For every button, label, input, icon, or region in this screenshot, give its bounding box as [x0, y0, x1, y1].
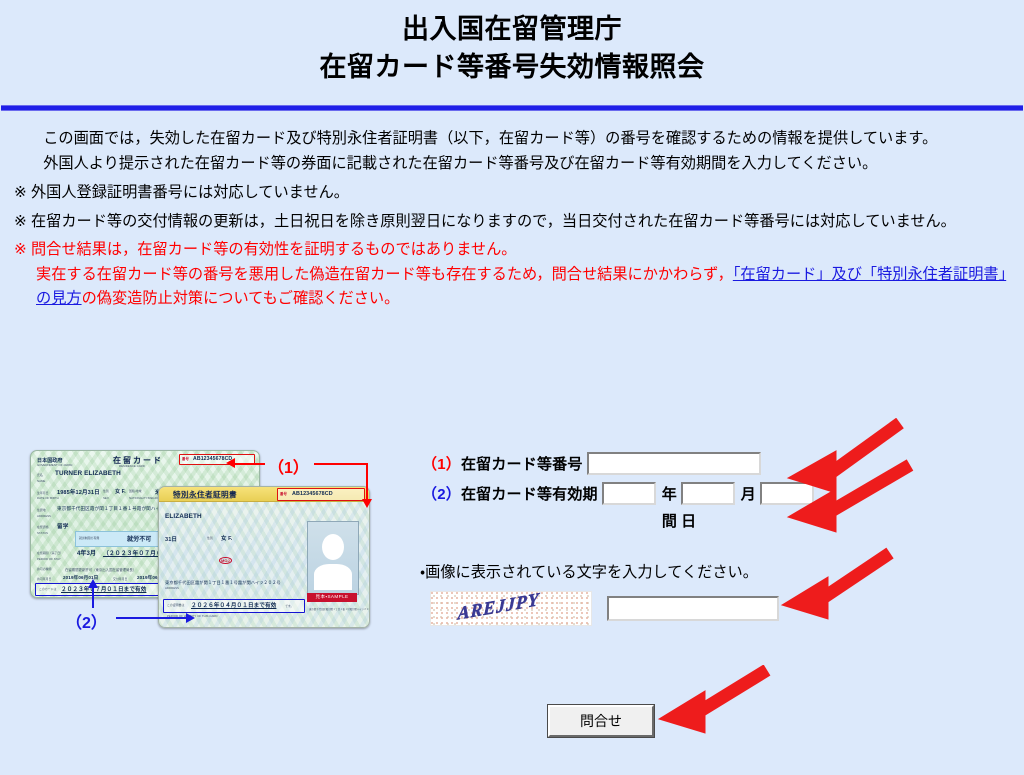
rc-period-value: 4年3月: [77, 548, 96, 557]
captcha-image-text: AREJJPY: [457, 591, 540, 624]
rc-card-title-en: RESIDENCE CARD: [119, 464, 145, 468]
anno1-label: （1）: [268, 454, 309, 478]
anno2-line-horizontal: [116, 617, 188, 619]
inquiry-submit-button[interactable]: 問合せ: [548, 705, 654, 737]
field2-tail-label: 間 日: [538, 510, 820, 531]
special-permanent-resident-card-sample: 特別永住者証明書 SPECIAL PERMANENT RESIDENT CERT…: [158, 486, 370, 628]
anno1-arrowhead-down-icon: [362, 499, 372, 508]
form-row-validity-period: （2） 在留カード等有効期 年 月: [420, 482, 820, 505]
rc-status-value: 留学: [57, 522, 68, 530]
rc-valid-prefix: このカードは: [39, 587, 56, 591]
rc-name-en: NAME: [37, 479, 45, 483]
unit-month-label: 月: [741, 483, 756, 504]
rc-status-en: STATUS: [37, 531, 48, 535]
field1-index-label: （1）: [422, 453, 461, 474]
spr-photo-head: [322, 534, 344, 560]
rc-issue-label: 交付年月日: [113, 577, 127, 581]
anno1-line-left: [233, 463, 265, 465]
note-foreign-registration: ※ 外国人登録証明書番号には対応していません。: [14, 181, 1010, 206]
spr-card-title-en: SPECIAL PERMANENT RESIDENT CERTIFICATE: [173, 497, 232, 500]
sample-cards-illustration: 日本国政府 GOVERNMENT OF JAPAN 在留カード RESIDENC…: [18, 438, 428, 648]
spr-photo-body: [314, 564, 352, 590]
note-issuance-update: ※ 在留カード等の交付情報の更新は，土日祝日を除き原則翌日になりますので，当日交…: [14, 210, 1010, 235]
rc-work-band-label: 就労制限の有無: [79, 536, 99, 540]
rc-name-label: 氏名: [37, 473, 43, 477]
spr-sample-banner: 見本・SAMPLE: [307, 593, 357, 602]
spr-footer-note: 東京都千代田区霞が関１丁目１番１号霞が関ハイツ２０２号: [309, 607, 370, 611]
anno2-arrowhead-right-icon: [186, 613, 195, 623]
rc-sex-label: 性別: [103, 489, 109, 493]
form-row-card-number: （1） 在留カード等番号: [420, 452, 820, 475]
validity-month-input[interactable]: [681, 482, 735, 505]
validity-year-input[interactable]: [602, 482, 656, 505]
spr-address-en: ADDRESS: [165, 586, 179, 590]
rc-permit-value: 在留期間更新許可（東京出入国在留管理局長）: [65, 567, 136, 572]
rc-status-label: 在留資格: [37, 525, 49, 529]
rc-gov-en: GOVERNMENT OF JAPAN: [37, 463, 72, 467]
intro-paragraph-2: 外国人より提示された在留カード等の券面に記載された在留カード等番号及び在留カード…: [14, 152, 1010, 177]
spr-name-value: ELIZABETH: [165, 513, 202, 520]
page-header: 出入国在留管理庁 在留カード等番号失効情報照会: [0, 0, 1024, 87]
rc-sex-value: 女 F.: [115, 488, 126, 495]
rc-permit-label: 許可の種類: [37, 567, 51, 571]
rc-nationality-label: 国籍・地域: [129, 489, 142, 493]
inquiry-form: （1） 在留カード等番号 （2） 在留カード等有効期 年 月 間 日 ・画像に表…: [420, 452, 820, 626]
submit-area: 問合せ: [548, 705, 654, 737]
rc-period-label: 在留期間（満了日）: [37, 551, 63, 555]
spr-sex-value: 女 F.: [221, 534, 232, 542]
spr-valid-text: ２０２６年０４月０１日まで有効: [191, 601, 276, 609]
spr-address-value: 東京都千代田区霞が関１丁目１番１号霞が関ハイツ２０２号: [165, 580, 281, 586]
field2-text-label: 在留カード等有効期: [461, 483, 598, 504]
note-forgery-pre: 実在する在留カード等の番号を悪用した偽造在留カード等も存在するため，問合せ結果に…: [36, 266, 733, 283]
note-forgery-warning: 実在する在留カード等の番号を悪用した偽造在留カード等も存在するため，問合せ結果に…: [14, 263, 1010, 312]
rc-work-band-value: 就労不可: [127, 534, 151, 543]
spr-valid-prefix: この証明書は: [167, 603, 184, 607]
header-divider: [1, 105, 1023, 111]
anno2-label: （2）: [66, 609, 107, 633]
unit-year-label: 年: [662, 483, 677, 504]
anno1-arrowhead-left-icon: [226, 458, 235, 468]
captcha-instruction: ・画像に表示されている文字を入力してください。: [420, 560, 820, 582]
intro-text-block: この画面では，失効した在留カード及び特別永住者証明書（以下，在留カード等）の番号…: [14, 127, 1010, 312]
spr-number-label: 番号: [280, 491, 287, 496]
rc-period-en: PERIOD OF STAY: [37, 557, 61, 561]
anno2-arrowhead-up-icon: [88, 579, 98, 588]
spr-moj-seal-icon: MOJ: [219, 557, 232, 564]
rc-permit-date-label: 許可年月日: [37, 577, 51, 581]
header-divider-wrap: [0, 105, 1024, 111]
anno1-line-right: [314, 463, 368, 465]
note-validity-warning: ※ 問合せ結果は，在留カード等の有効性を証明するものではありません。: [14, 238, 1010, 263]
spr-photo-placeholder: [307, 521, 359, 595]
anno1-line-vertical: [366, 463, 368, 501]
field1-text-label: 在留カード等番号: [461, 453, 583, 474]
spr-number-value: AB12345678CD: [292, 491, 333, 497]
rc-birth-label: 生年月日: [37, 491, 49, 495]
rc-number-label: 番号: [182, 456, 189, 461]
anno2-line-vertical: [92, 586, 94, 608]
rc-name-value: TURNER ELIZABETH: [55, 470, 121, 477]
captcha-image: AREJJPY: [430, 591, 592, 626]
rc-address-label: 住居地: [37, 508, 46, 512]
rc-address-en: ADDRESS: [37, 514, 51, 518]
note-forgery-post: の偽変造防止対策についてもご確認ください。: [82, 290, 400, 307]
spr-sex-label: 性別: [207, 536, 213, 540]
field2-index-label: （2）: [422, 483, 461, 504]
rc-nationality-en: NATIONALITY/REGION: [129, 496, 160, 500]
captcha-row: AREJJPY: [430, 591, 820, 626]
rc-birth-en: DATE OF BIRTH: [37, 496, 59, 500]
rc-valid-text: ２０２３年０７月０１日まで有効: [61, 585, 146, 593]
intro-paragraph-1: この画面では，失効した在留カード及び特別永住者証明書（以下，在留カード等）の番号…: [14, 127, 1010, 152]
card-number-input[interactable]: [587, 452, 761, 475]
rc-birth-value: 1985年12月31日: [57, 488, 100, 496]
page-title-line1: 出入国在留管理庁: [0, 10, 1024, 48]
validity-day-input[interactable]: [760, 482, 814, 505]
page-title-line2: 在留カード等番号失効情報照会: [0, 48, 1024, 86]
spr-birth-value: 31日: [165, 535, 177, 543]
spr-valid-suffix: です。: [285, 604, 293, 608]
rc-sex-en: SEX: [103, 496, 109, 500]
captcha-input[interactable]: [607, 596, 779, 621]
